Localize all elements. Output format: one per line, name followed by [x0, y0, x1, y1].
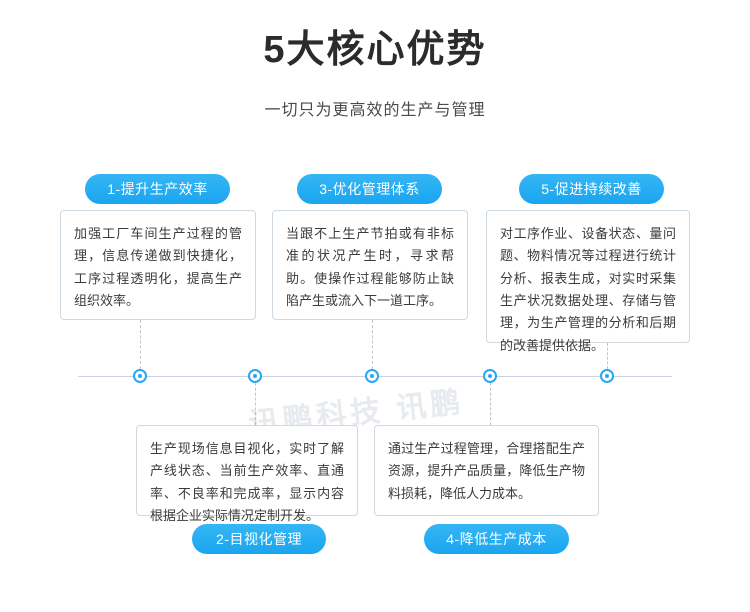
page-header: 5大核心优势 一切只为更高效的生产与管理: [0, 0, 750, 120]
pill-label-2[interactable]: 2-目视化管理: [192, 524, 326, 554]
advantages-infographic: 5大核心优势 一切只为更高效的生产与管理 讯鹏科技 讯鹏 1-提升生产效率 加强…: [0, 0, 750, 612]
connector-1: [140, 320, 141, 369]
timeline-node-3: [365, 369, 379, 383]
card-text-3: 当跟不上生产节拍或有非标准的状况产生时，寻求帮助。使操作过程能够防止缺陷产生或流…: [272, 210, 468, 320]
timeline-node-5: [600, 369, 614, 383]
timeline-node-4: [483, 369, 497, 383]
card-text-5: 对工序作业、设备状态、量问题、物料情况等过程进行统计分析、报表生成，对实时采集生…: [486, 210, 690, 343]
timeline-node-2: [248, 369, 262, 383]
card-text-4: 通过生产过程管理，合理搭配生产资源，提升产品质量，降低生产物料损耗，降低人力成本…: [374, 425, 599, 516]
connector-2: [255, 383, 256, 425]
page-title: 5大核心优势: [0, 28, 750, 74]
pill-label-5[interactable]: 5-促进持续改善: [519, 174, 664, 204]
pill-label-4[interactable]: 4-降低生产成本: [424, 524, 569, 554]
pill-label-1[interactable]: 1-提升生产效率: [85, 174, 230, 204]
card-text-1: 加强工厂车间生产过程的管理，信息传递做到快捷化，工序过程透明化，提高生产组织效率…: [60, 210, 256, 320]
connector-5: [607, 343, 608, 369]
connector-4: [490, 383, 491, 425]
page-subtitle: 一切只为更高效的生产与管理: [0, 96, 750, 120]
pill-label-3[interactable]: 3-优化管理体系: [297, 174, 442, 204]
connector-3: [372, 320, 373, 369]
card-text-2: 生产现场信息目视化，实时了解产线状态、当前生产效率、直通率、不良率和完成率，显示…: [136, 425, 358, 516]
timeline-node-1: [133, 369, 147, 383]
